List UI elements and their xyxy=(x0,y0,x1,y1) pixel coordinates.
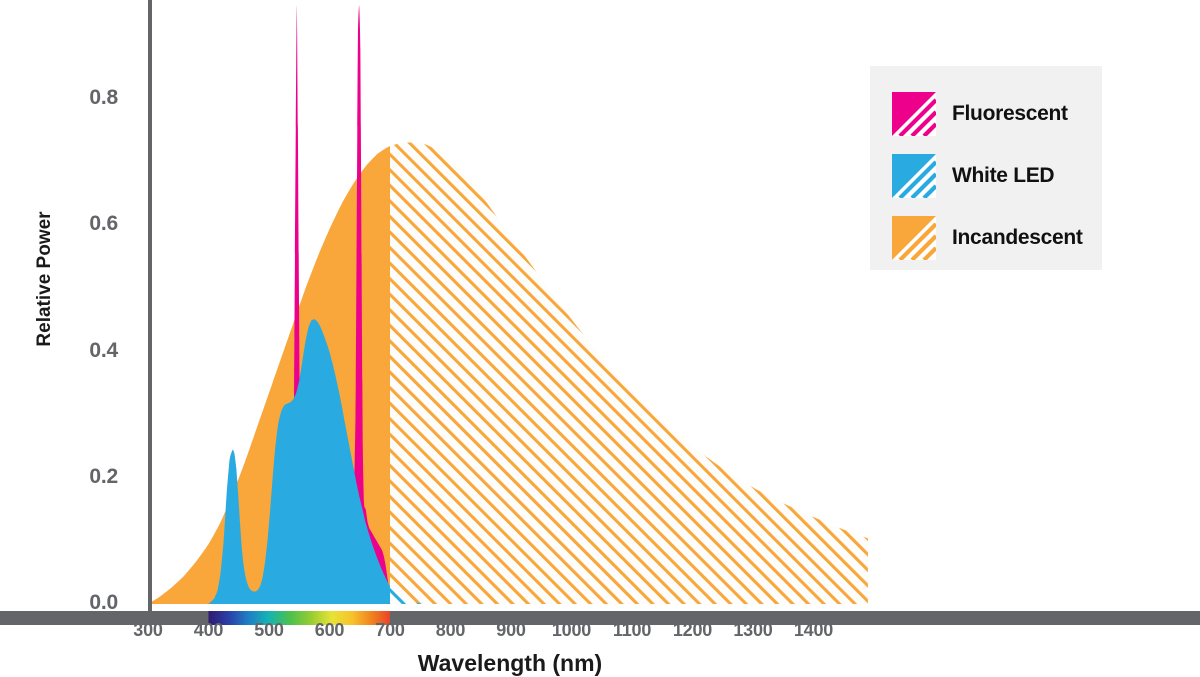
y-tick-label: 0.4 xyxy=(58,339,118,363)
legend-swatch-incandescent xyxy=(892,216,936,260)
x-tick-label: 400 xyxy=(174,620,244,641)
area-incandescent xyxy=(148,142,868,604)
legend: Fluorescent White LED xyxy=(870,66,1102,270)
legend-label-white-led: White LED xyxy=(952,164,1054,188)
x-tick-label: 1100 xyxy=(597,620,667,641)
y-tick-label: 0.2 xyxy=(58,465,118,489)
y-axis-line xyxy=(148,0,152,611)
legend-item-incandescent[interactable]: Incandescent xyxy=(892,210,1102,266)
x-tick-label: 800 xyxy=(416,620,486,641)
legend-swatch-fluorescent xyxy=(892,92,936,136)
legend-label-fluorescent: Fluorescent xyxy=(952,102,1068,126)
x-tick-label: 500 xyxy=(234,620,304,641)
y-tick-label: 0.0 xyxy=(58,591,118,615)
x-tick-label: 1300 xyxy=(718,620,788,641)
y-tick-label: 0.8 xyxy=(58,86,118,110)
x-tick-label: 700 xyxy=(355,620,425,641)
x-tick-label: 1400 xyxy=(779,620,849,641)
y-tick-label: 0.6 xyxy=(58,212,118,236)
x-tick-label: 900 xyxy=(476,620,546,641)
legend-item-fluorescent[interactable]: Fluorescent xyxy=(892,86,1102,142)
legend-swatch-white-led xyxy=(892,154,936,198)
x-axis-title: Wavelength (nm) xyxy=(330,650,690,677)
x-tick-label: 600 xyxy=(295,620,365,641)
x-tick-label: 1200 xyxy=(658,620,728,641)
y-axis-title: Relative Power xyxy=(34,189,56,369)
legend-item-white-led[interactable]: White LED xyxy=(892,148,1102,204)
x-tick-label: 1000 xyxy=(537,620,607,641)
x-tick-label: 300 xyxy=(113,620,183,641)
series-areas xyxy=(148,5,868,604)
spectral-power-chart: 0.8 0.6 0.4 0.2 0.0 30040050060070080090… xyxy=(0,0,1200,675)
legend-label-incandescent: Incandescent xyxy=(952,226,1083,250)
